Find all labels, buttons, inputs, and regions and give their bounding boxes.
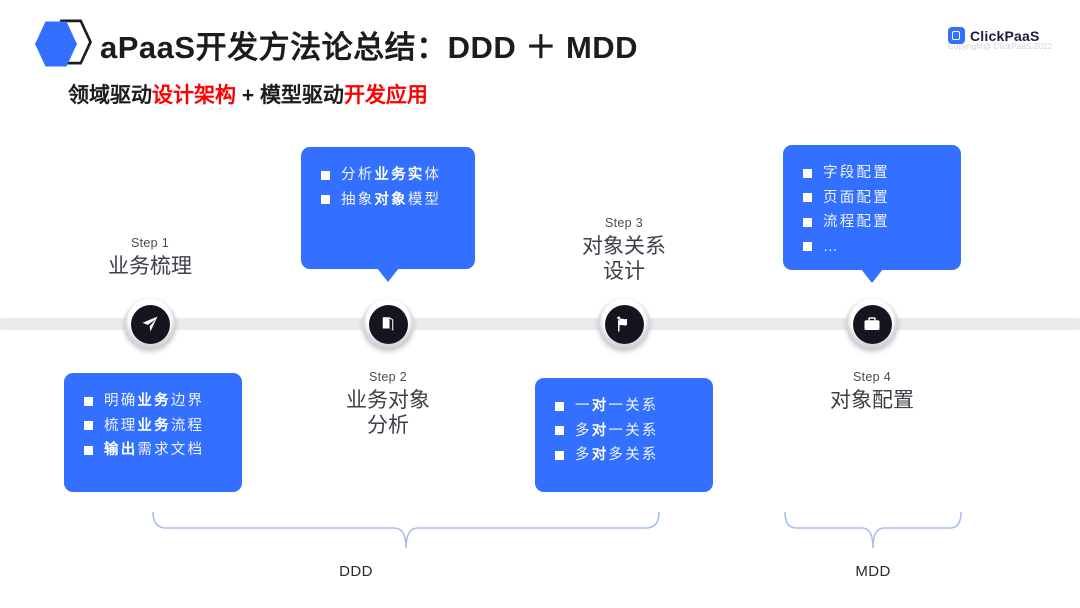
bullet-square-icon <box>555 402 564 411</box>
callout-item-label: 抽象对象模型 <box>341 193 441 208</box>
callout-item: 流程配置 <box>803 210 941 235</box>
callout-list: 分析业务实体抽象对象模型 <box>321 163 455 212</box>
callout-step2-details[interactable]: 分析业务实体抽象对象模型 <box>301 147 475 269</box>
callout-item: 多对多关系 <box>555 443 693 468</box>
bullet-square-icon <box>555 426 564 435</box>
bullet-square-icon <box>321 171 330 180</box>
timeline-node-step-1[interactable] <box>124 298 176 350</box>
callout-step4-details[interactable]: 字段配置页面配置流程配置… <box>783 145 961 270</box>
group-brace-mdd <box>782 510 964 550</box>
step-number-4: Step 4 <box>792 370 952 384</box>
callout-item: 输出需求文档 <box>84 438 222 463</box>
timeline-node-step-3[interactable] <box>598 298 650 350</box>
step-number-3: Step 3 <box>544 216 704 230</box>
callout-item: 字段配置 <box>803 161 941 186</box>
bullet-square-icon <box>84 421 93 430</box>
callout-item-label: 明确业务边界 <box>104 394 204 409</box>
slide-canvas: aPaaS开发方法论总结：DDD ＋ MDD 领域驱动设计架构 + 模型驱动开发… <box>0 0 1080 608</box>
callout-item-label: 流程配置 <box>823 215 890 230</box>
callout-list: 明确业务边界梳理业务流程输出需求文档 <box>84 389 222 463</box>
callout-list: 字段配置页面配置流程配置… <box>803 161 941 259</box>
subtitle-highlight-1: 设计架构 <box>152 84 236 107</box>
timeline-node-step-4[interactable] <box>846 298 898 350</box>
callout-item: 页面配置 <box>803 186 941 211</box>
bullet-square-icon <box>803 169 812 178</box>
callout-item: 抽象对象模型 <box>321 188 455 213</box>
page-subtitle: 领域驱动设计架构 + 模型驱动开发应用 <box>68 79 428 109</box>
page-title: aPaaS开发方法论总结：DDD ＋ MDD <box>100 22 638 67</box>
brand-copyright: Copyright@ ClickPaaS 2022 <box>948 42 1052 51</box>
callout-item: 分析业务实体 <box>321 163 455 188</box>
step-title-4: 对象配置 <box>792 389 952 414</box>
callout-item-label: 梳理业务流程 <box>104 419 204 434</box>
book-icon <box>369 305 408 344</box>
briefcase-icon <box>853 305 892 344</box>
bullet-square-icon <box>321 195 330 204</box>
callout-item: 梳理业务流程 <box>84 414 222 439</box>
step-caption-3: Step 3 对象关系 设计 <box>544 216 704 285</box>
bullet-square-icon <box>84 397 93 406</box>
callout-item-label: 输出需求文档 <box>104 443 204 458</box>
clickpaas-badge-icon <box>948 27 965 44</box>
callout-item-label: 页面配置 <box>823 191 890 206</box>
flag-icon <box>605 305 644 344</box>
callout-list: 一对一关系多对一关系多对多关系 <box>555 394 693 468</box>
callout-item: 多对一关系 <box>555 419 693 444</box>
bullet-square-icon <box>803 218 812 227</box>
hexagon-logo-icon <box>32 18 94 66</box>
subtitle-plus: + <box>236 84 260 107</box>
step-caption-1: Step 1 业务梳理 <box>70 236 230 280</box>
timeline-node-step-2[interactable] <box>362 298 414 350</box>
callout-item: 明确业务边界 <box>84 389 222 414</box>
step-number-2: Step 2 <box>308 370 468 384</box>
callout-step3-details[interactable]: 一对一关系多对一关系多对多关系 <box>535 378 713 492</box>
brand-logo: ClickPaaS Copyright@ ClickPaaS 2022 <box>948 27 1052 51</box>
bullet-square-icon <box>803 242 812 251</box>
callout-item-label: 多对一关系 <box>575 424 659 439</box>
paper-plane-icon <box>131 305 170 344</box>
bullet-square-icon <box>84 446 93 455</box>
step-number-1: Step 1 <box>70 236 230 250</box>
callout-item-label: 分析业务实体 <box>341 168 441 183</box>
step-caption-2: Step 2 业务对象 分析 <box>308 370 468 439</box>
subtitle-segment-2: 模型驱动 <box>260 84 344 107</box>
callout-step1-details[interactable]: 明确业务边界梳理业务流程输出需求文档 <box>64 373 242 492</box>
group-brace-ddd <box>150 510 662 550</box>
subtitle-highlight-2: 开发应用 <box>344 84 428 107</box>
group-label-mdd: MDD <box>823 563 923 580</box>
callout-item-label: 一对一关系 <box>575 399 659 414</box>
step-title-3: 对象关系 设计 <box>544 235 704 285</box>
bullet-square-icon <box>803 193 812 202</box>
step-title-1: 业务梳理 <box>70 255 230 280</box>
callout-item-label: 多对多关系 <box>575 448 659 463</box>
step-caption-4: Step 4 对象配置 <box>792 370 952 414</box>
callout-item: 一对一关系 <box>555 394 693 419</box>
callout-item-label: 字段配置 <box>823 166 890 181</box>
callout-item: … <box>803 235 941 260</box>
group-label-ddd: DDD <box>306 563 406 580</box>
callout-item-label: … <box>823 240 840 255</box>
subtitle-segment-1: 领域驱动 <box>68 84 152 107</box>
bullet-square-icon <box>555 451 564 460</box>
step-title-2: 业务对象 分析 <box>308 389 468 439</box>
